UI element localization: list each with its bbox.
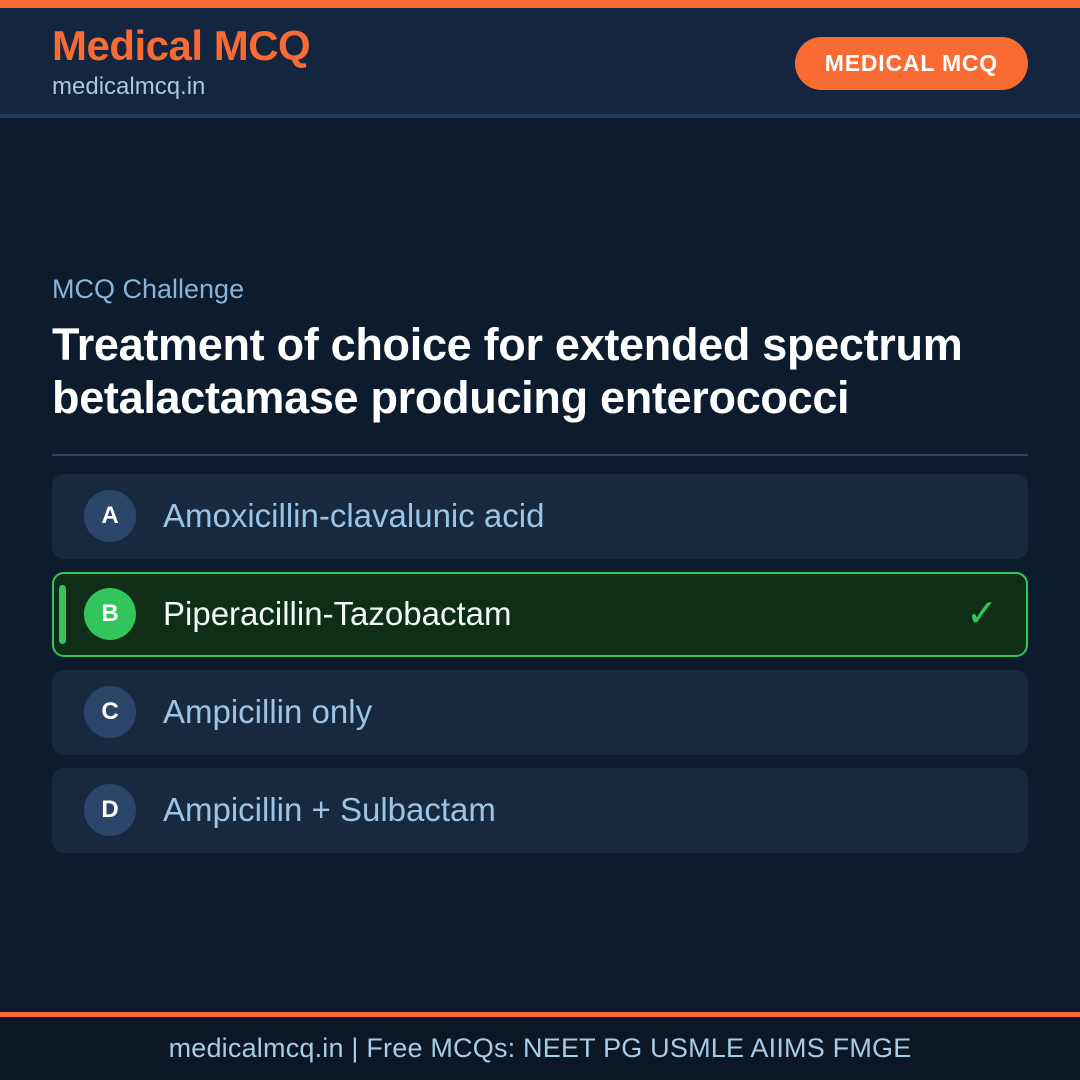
brand-title: Medical MCQ xyxy=(52,24,310,68)
option-letter-badge: B xyxy=(84,588,136,640)
footer-text: medicalmcq.in | Free MCQs: NEET PG USMLE… xyxy=(169,1033,912,1064)
app-header: Medical MCQ medicalmcq.in MEDICAL MCQ xyxy=(0,8,1080,118)
option-label: Piperacillin-Tazobactam xyxy=(163,594,511,634)
app-footer: medicalmcq.in | Free MCQs: NEET PG USMLE… xyxy=(0,1017,1080,1080)
top-accent-bar xyxy=(0,0,1080,8)
option-row-d[interactable]: D Ampicillin + Sulbactam xyxy=(52,768,1028,853)
option-letter-badge: C xyxy=(84,686,136,738)
brand: Medical MCQ medicalmcq.in xyxy=(52,24,310,102)
header-badge[interactable]: MEDICAL MCQ xyxy=(795,37,1028,90)
main-content: MCQ Challenge Treatment of choice for ex… xyxy=(0,118,1080,1012)
option-letter-badge: D xyxy=(84,784,136,836)
option-label: Ampicillin + Sulbactam xyxy=(163,790,496,830)
section-eyebrow: MCQ Challenge xyxy=(52,273,1028,305)
brand-subtitle: medicalmcq.in xyxy=(52,71,310,102)
option-letter-badge: A xyxy=(84,490,136,542)
question-divider xyxy=(52,454,1028,456)
correct-check-icon: ✓ xyxy=(966,595,998,633)
option-row-c[interactable]: C Ampicillin only xyxy=(52,670,1028,755)
selected-accent-bar xyxy=(59,585,66,644)
option-row-b[interactable]: B Piperacillin-Tazobactam ✓ xyxy=(52,572,1028,657)
option-row-a[interactable]: A Amoxicillin-clavalunic acid xyxy=(52,474,1028,559)
question-title: Treatment of choice for extended spectru… xyxy=(52,319,1027,423)
options-list: A Amoxicillin-clavalunic acid B Piperaci… xyxy=(52,474,1028,853)
option-label: Ampicillin only xyxy=(163,692,372,732)
option-label: Amoxicillin-clavalunic acid xyxy=(163,496,544,536)
mcq-card: Medical MCQ medicalmcq.in MEDICAL MCQ MC… xyxy=(0,0,1080,1080)
